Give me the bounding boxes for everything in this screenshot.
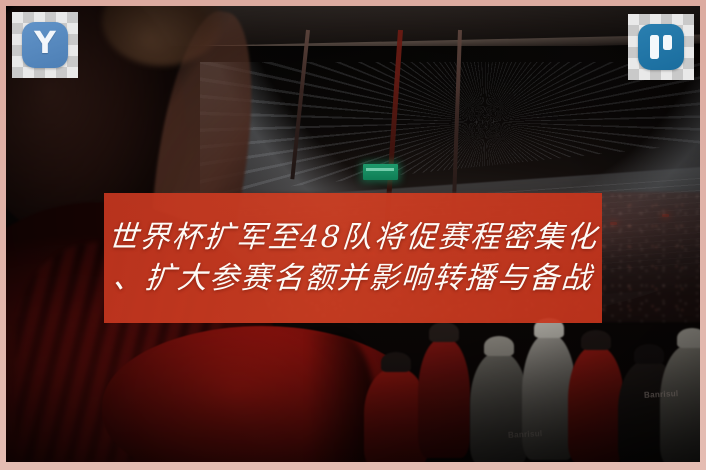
headline-banner: 世界杯扩军至48队将促赛程密集化 、扩大参赛名额并影响转播与备战 xyxy=(104,193,602,323)
supporter xyxy=(418,338,470,458)
jersey-sponsor-text: Banrisul xyxy=(644,389,679,400)
trello-icon-tile xyxy=(638,24,684,70)
jersey-sponsor-text-2: Banrisul xyxy=(508,429,543,440)
yandex-y-glyph: Y xyxy=(34,29,56,59)
trello-bar-short xyxy=(663,35,672,50)
scoreboard xyxy=(363,164,398,180)
supporter xyxy=(470,352,528,462)
trello-icon[interactable] xyxy=(628,14,694,80)
headline-line-1: 世界杯扩军至48队将促赛程密集化 xyxy=(106,217,599,258)
yandex-icon-tile: Y xyxy=(22,22,68,68)
supporter xyxy=(568,346,624,462)
trello-bar-tall xyxy=(650,35,659,59)
headline-line-2: 、扩大参赛名额并影响转播与备战 xyxy=(112,258,595,299)
supporter-crowd: Banrisul Banrisul xyxy=(362,324,700,462)
supporter xyxy=(660,344,700,462)
yandex-browser-icon[interactable]: Y xyxy=(12,12,78,78)
trello-board-bars xyxy=(650,35,672,59)
page-root: Banrisul Banrisul 世界杯扩军至48队将促赛程密集化 、扩大参赛… xyxy=(0,0,706,470)
